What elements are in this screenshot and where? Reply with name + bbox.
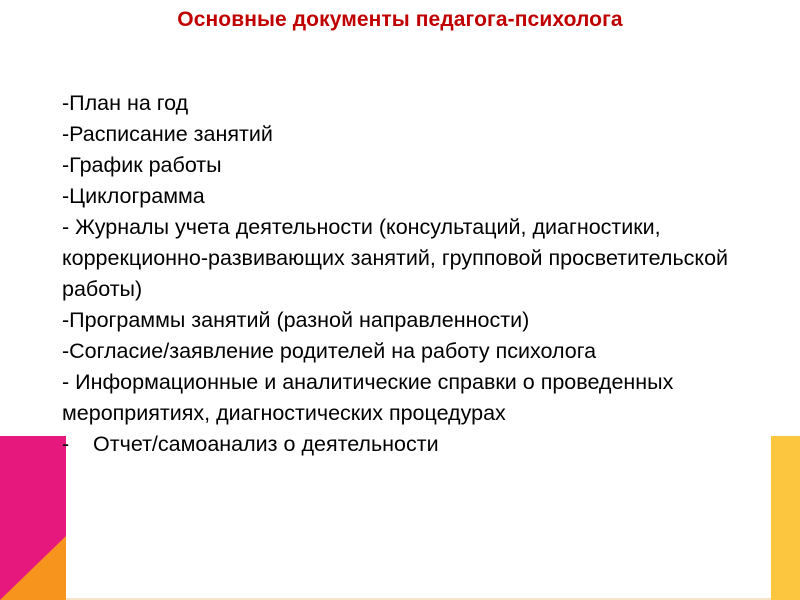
body-line: -Программы занятий (разной направленност… (62, 305, 762, 336)
body-line: -Расписание занятий (62, 119, 762, 150)
slide-body: -План на год -Расписание занятий -График… (62, 88, 762, 460)
slide-title: Основные документы педагога-психолога (0, 7, 800, 33)
body-line: - Информационные и аналитические справки… (62, 367, 762, 429)
slide-canvas: Основные документы педагога-психолога -П… (0, 0, 800, 600)
body-line: -Циклограмма (62, 181, 762, 212)
body-line: -План на год (62, 88, 762, 119)
body-line: - Журналы учета деятельности (консультац… (62, 212, 762, 305)
body-line: -График работы (62, 150, 762, 181)
yellow-bar-decoration (771, 436, 800, 600)
body-line: -Согласие/заявление родителей на работу … (62, 336, 762, 367)
body-line: - Отчет/самоанализ о деятельности (62, 429, 762, 460)
